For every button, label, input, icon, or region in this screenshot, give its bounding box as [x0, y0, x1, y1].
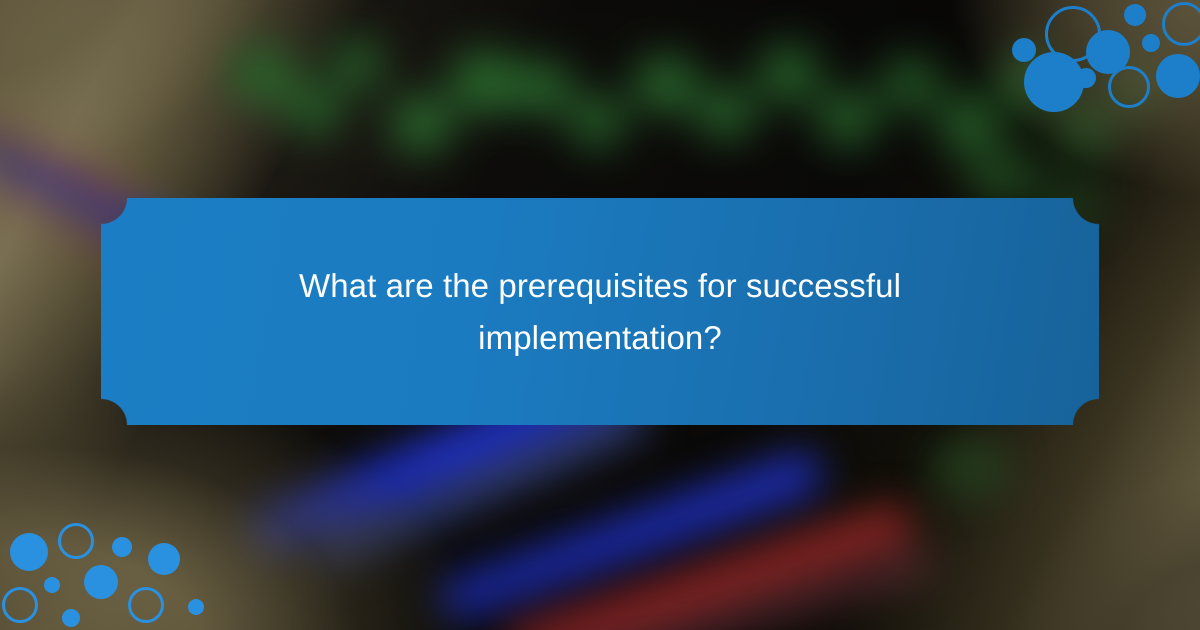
social-card-canvas: What are the prerequisites for successfu… — [0, 0, 1200, 630]
decorative-circles-top-right — [990, 0, 1200, 115]
question-text: What are the prerequisites for successfu… — [191, 260, 1009, 364]
question-card-content: What are the prerequisites for successfu… — [101, 198, 1099, 425]
question-card: What are the prerequisites for successfu… — [101, 198, 1099, 425]
decorative-circles-bottom-left — [0, 515, 235, 630]
